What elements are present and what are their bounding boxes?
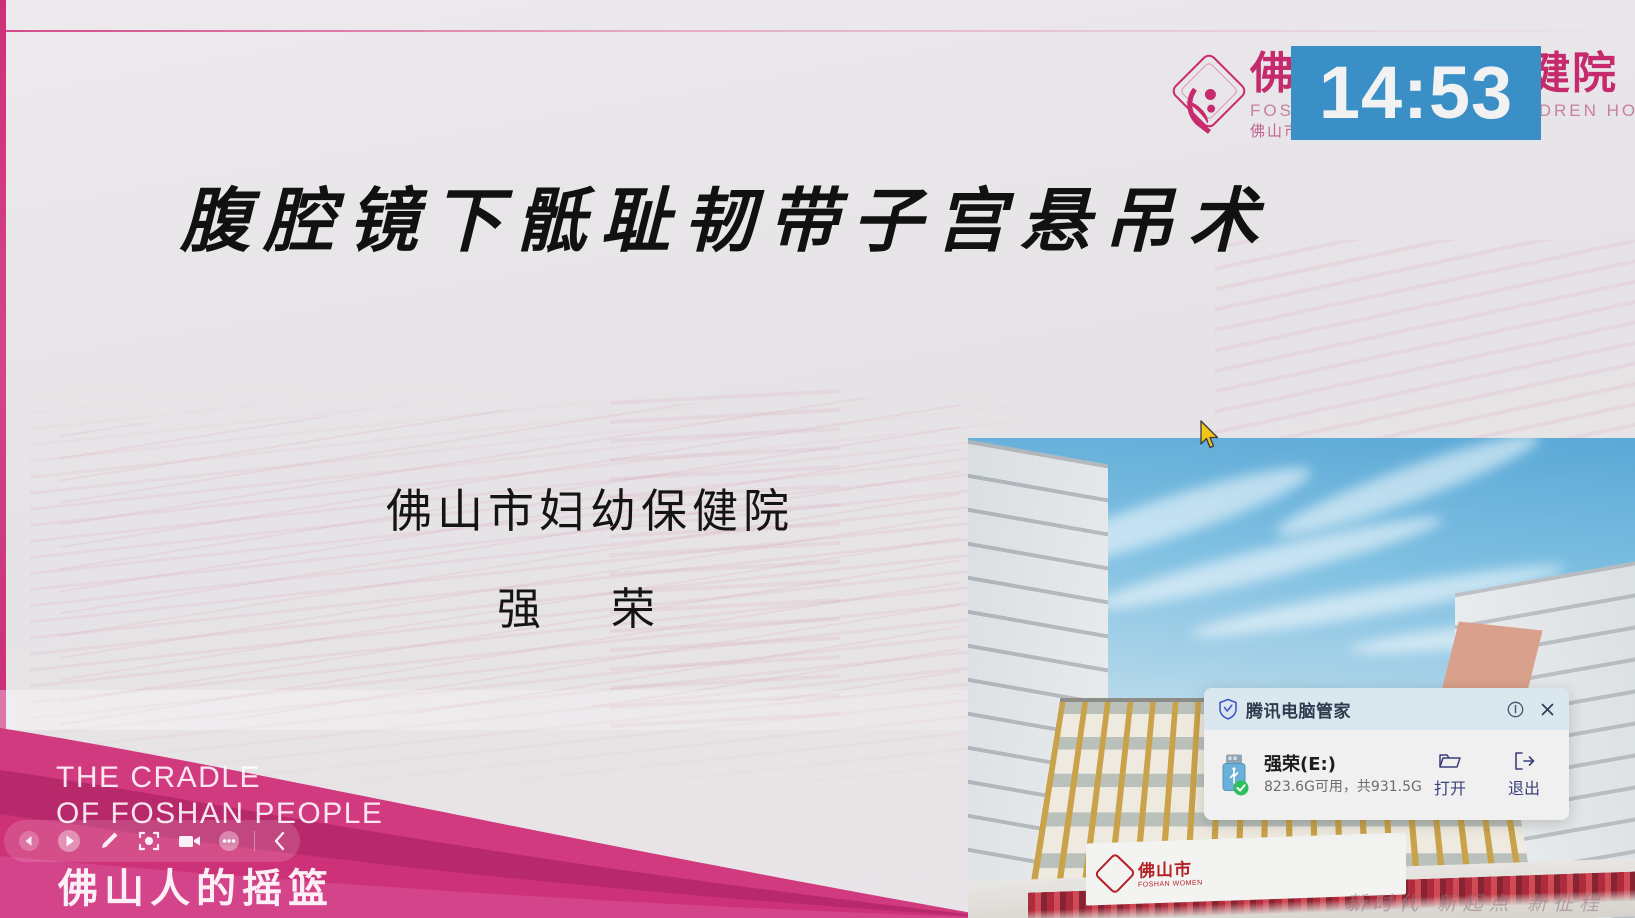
- toolbar-divider: [254, 831, 255, 851]
- slide-presenter: 强 荣: [180, 580, 1000, 640]
- notification-header: 腾讯电脑管家: [1204, 688, 1569, 730]
- drive-info: 强荣(E:) 823.6G可用，共931.5G: [1264, 753, 1407, 797]
- record-button[interactable]: [174, 826, 204, 856]
- drive-name: 强荣(E:): [1264, 753, 1407, 777]
- photo-calligraphy-text: 新时代 新起点 新征程: [1346, 887, 1605, 916]
- screenshot-button[interactable]: [134, 826, 164, 856]
- eject-drive-label: 退出: [1508, 775, 1540, 799]
- eject-exit-icon: [1513, 751, 1535, 771]
- pen-button[interactable]: [94, 826, 124, 856]
- notification-app-title: 腾讯电脑管家: [1246, 697, 1495, 722]
- clock-time: 14:53: [1319, 56, 1513, 130]
- background-tower-watermark: [610, 389, 840, 731]
- close-icon[interactable]: [1535, 697, 1559, 721]
- brand-tagline-cn: 佛山人的摇篮: [58, 866, 334, 912]
- slide-organization: 佛山市妇幼保健院: [180, 480, 1000, 542]
- shield-icon: [1218, 698, 1238, 720]
- eject-drive-button[interactable]: 退出: [1493, 751, 1555, 799]
- previous-button[interactable]: [14, 826, 44, 856]
- drive-capacity: 823.6G可用，共931.5G: [1264, 777, 1407, 797]
- hospital-diamond-logo-icon: [1175, 55, 1243, 133]
- open-folder-icon: [1438, 751, 1462, 771]
- notification-body: 强荣(E:) 823.6G可用，共931.5G 打开 退出: [1204, 730, 1569, 820]
- open-drive-label: 打开: [1434, 775, 1466, 799]
- slide-top-rule: [0, 30, 1635, 32]
- slide-left-accent-bar: [0, 0, 6, 918]
- collapse-button[interactable]: [265, 826, 295, 856]
- player-toolbar[interactable]: [4, 820, 300, 862]
- notification-popup[interactable]: 腾讯电脑管家: [1204, 688, 1569, 820]
- slide-title: 腹腔镜下骶耻韧带子宫悬吊术: [180, 178, 1270, 264]
- hospital-sign-text-en: FOSHAN WOMEN: [1138, 880, 1203, 889]
- hospital-sign-logo-icon: [1094, 852, 1136, 894]
- usb-drive-icon: [1218, 753, 1252, 797]
- hospital-building-photo: 佛山市 FOSHAN WOMEN 新时代 新起点 新征程: [968, 438, 1635, 918]
- info-icon[interactable]: [1503, 697, 1527, 721]
- more-button[interactable]: [214, 826, 244, 856]
- hospital-sign-text: 佛山市: [1138, 855, 1203, 882]
- play-button[interactable]: [54, 826, 84, 856]
- screen: 佛山市妇幼保健院 FOSHAN WOMEN AND CHILDREN HOSPI…: [0, 0, 1635, 918]
- open-drive-button[interactable]: 打开: [1419, 751, 1481, 799]
- clock-overlay: 14:53: [1291, 46, 1541, 140]
